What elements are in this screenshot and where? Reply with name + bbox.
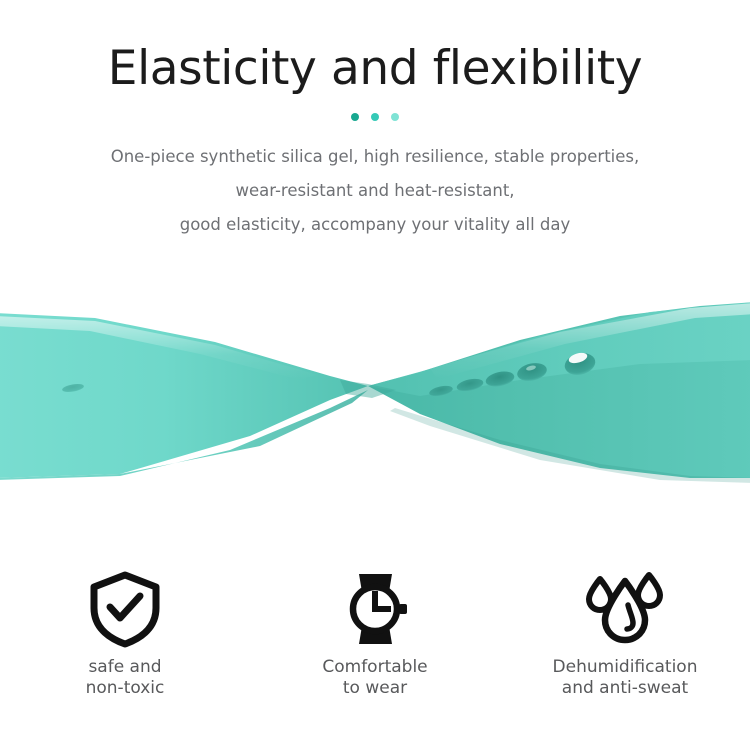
feature-caption-safe: safe and non-toxic bbox=[86, 657, 165, 699]
water-droplets-icon bbox=[581, 570, 669, 648]
caption-line-1: Comfortable bbox=[322, 657, 427, 678]
separator-dot-3 bbox=[391, 113, 399, 121]
page-title: Elasticity and flexibility bbox=[0, 0, 750, 95]
feature-caption-comfortable: Comfortable to wear bbox=[322, 657, 427, 699]
separator-dot-2 bbox=[371, 113, 379, 121]
shield-check-icon bbox=[87, 570, 163, 648]
caption-line-2: and anti-sweat bbox=[553, 678, 698, 699]
subtitle-line-1: One-piece synthetic silica gel, high res… bbox=[0, 140, 750, 174]
caption-line-1: Dehumidification bbox=[553, 657, 698, 678]
subtitle-line-2: wear-resistant and heat-resistant, bbox=[0, 174, 750, 208]
dot-separator bbox=[0, 111, 750, 123]
header: Elasticity and flexibility One-piece syn… bbox=[0, 0, 750, 242]
caption-line-2: non-toxic bbox=[86, 678, 165, 699]
band-left-upper bbox=[0, 313, 368, 478]
feature-dehumidification: Dehumidification and anti-sweat bbox=[500, 570, 750, 699]
subtitle-block: One-piece synthetic silica gel, high res… bbox=[0, 140, 750, 242]
subtitle-line-3: good elasticity, accompany your vitality… bbox=[0, 208, 750, 242]
caption-line-1: safe and bbox=[86, 657, 165, 678]
features-row: safe and non-toxic Comfortable to wear bbox=[0, 570, 750, 699]
caption-line-2: to wear bbox=[322, 678, 427, 699]
wristwatch-icon bbox=[334, 570, 416, 648]
feature-safe-non-toxic: safe and non-toxic bbox=[0, 570, 250, 699]
feature-caption-dehumidification: Dehumidification and anti-sweat bbox=[553, 657, 698, 699]
feature-comfortable-to-wear: Comfortable to wear bbox=[250, 570, 500, 699]
separator-dot-1 bbox=[351, 113, 359, 121]
product-photo bbox=[0, 268, 750, 518]
